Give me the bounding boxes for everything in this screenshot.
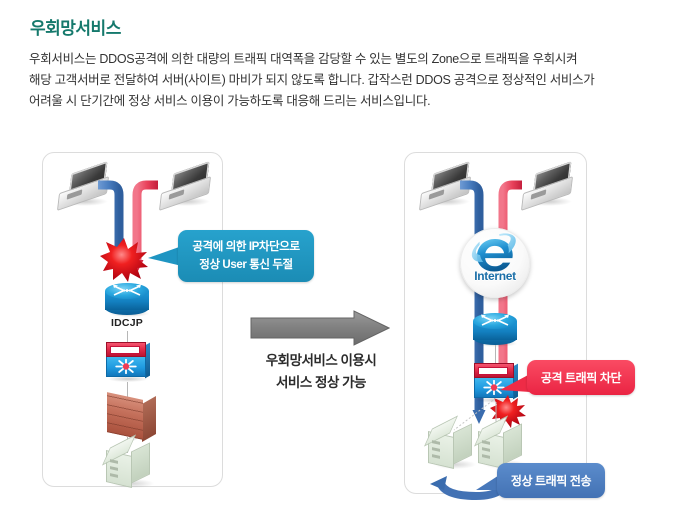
left-callout-tail — [148, 244, 182, 270]
router-arrows-glyph — [480, 314, 510, 327]
center-caption-line-2: 서비스 정상 가능 — [236, 372, 406, 394]
left-panel-server-icon — [106, 443, 154, 489]
firewall-face — [107, 392, 143, 440]
description-line-1: 우회서비스는 DDOS공격에 의한 대량의 트래픽 대역폭을 감당할 수 있는 … — [29, 49, 629, 70]
page-description: 우회서비스는 DDOS공격에 의한 대량의 트래픽 대역폭을 감당할 수 있는 … — [29, 49, 629, 112]
callout-attack-ip-block: 공격에 의한 IP차단으로 정상 User 통신 두절 — [178, 230, 314, 282]
server-right-face — [131, 442, 150, 483]
diagram-page: 우회망서비스 우회서비스는 DDOS공격에 의한 대량의 트래픽 대역폭을 감당… — [0, 0, 680, 525]
right-panel-laptop-right-icon — [522, 168, 576, 206]
left-panel-router-label: IDCJP — [105, 317, 149, 329]
page-title: 우회망서비스 — [30, 14, 121, 39]
switch-upper-inset — [110, 346, 140, 354]
attack-callout-tail — [500, 372, 530, 396]
callout-line-1: 공격 트래픽 차단 — [541, 370, 621, 386]
left-panel-firewall-icon — [107, 392, 157, 440]
callout-line-1: 정상 트래픽 전송 — [511, 473, 591, 489]
callout-attack-traffic-blocked: 공격 트래픽 차단 — [527, 360, 635, 395]
center-right-arrow-icon — [250, 310, 390, 346]
right-panel-wire-router-switch — [495, 345, 496, 365]
callout-normal-traffic-forward: 정상 트래픽 전송 — [497, 463, 605, 498]
switch-star-glyph — [115, 359, 137, 374]
description-line-2: 해당 고객서버로 전달하여 서버(사이트) 마비가 되지 않도록 합니다. 갑작… — [29, 70, 629, 91]
internet-explorer-icon: Internet — [460, 228, 530, 298]
center-caption: 우회망서비스 이용시 서비스 정상 가능 — [236, 350, 406, 394]
right-panel-router-icon — [473, 313, 517, 346]
center-caption-line-1: 우회망서비스 이용시 — [236, 350, 406, 372]
description-line-3: 어려울 시 단기간에 정상 서비스 이용이 가능하도록 대응해 드리는 서비스입… — [29, 91, 629, 112]
firewall-side — [142, 396, 156, 442]
server-right-face — [453, 423, 472, 464]
callout-line-1: 공격에 의한 IP차단으로 — [192, 238, 299, 256]
left-panel-router-icon — [105, 283, 149, 316]
server-right-face — [503, 423, 522, 464]
internet-badge-label: Internet — [460, 269, 530, 283]
callout-line-2: 정상 User 통신 두절 — [199, 256, 292, 274]
router-arrows-glyph — [112, 284, 142, 297]
left-panel-switch-icon — [104, 342, 150, 382]
left-panel-explosion-icon — [100, 238, 148, 282]
